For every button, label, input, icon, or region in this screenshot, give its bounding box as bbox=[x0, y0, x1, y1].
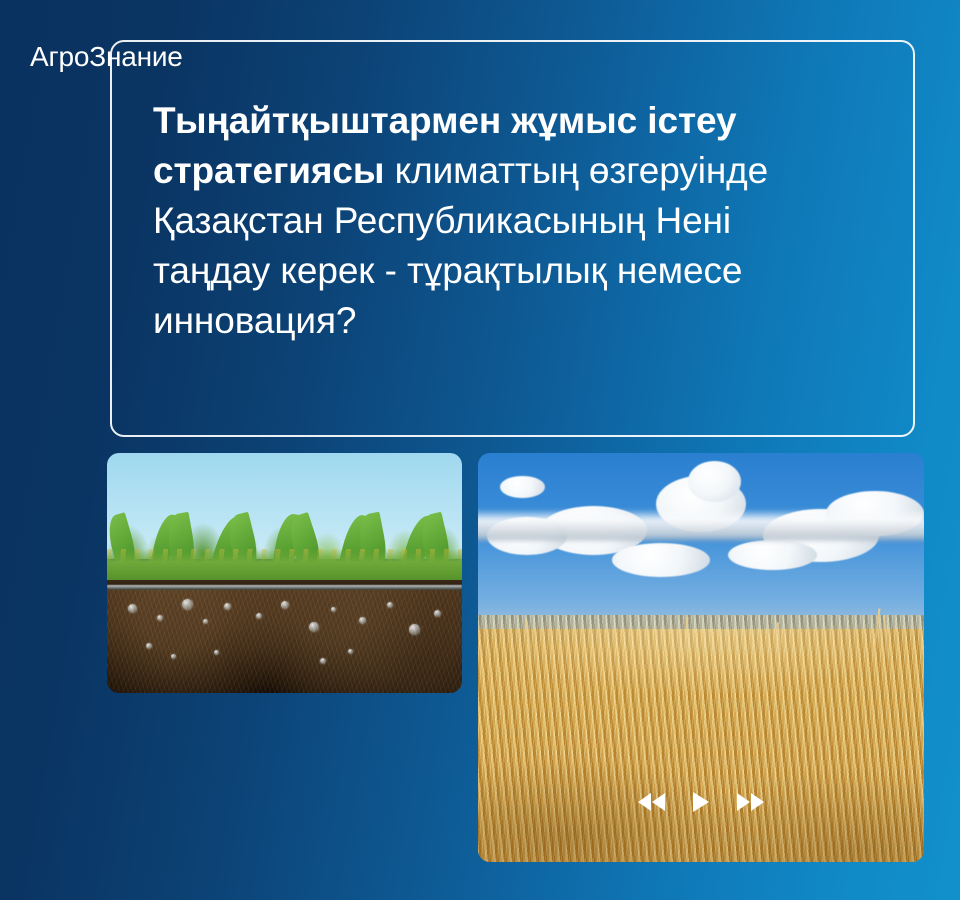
slide-canvas: АгроЗнание Тыңайтқыштармен жұмыс істеу с… bbox=[0, 0, 960, 900]
cloud bbox=[612, 543, 710, 577]
wheat-stalk bbox=[777, 622, 783, 664]
cloud bbox=[728, 540, 817, 570]
water-bubble bbox=[409, 624, 420, 635]
cloud bbox=[500, 476, 545, 499]
water-bubble bbox=[256, 613, 262, 619]
brand-logo: АгроЗнание bbox=[30, 43, 183, 71]
water-bubble bbox=[128, 604, 137, 613]
water-bubble bbox=[320, 658, 326, 664]
wheat-stalk bbox=[525, 620, 533, 666]
soil-cross-section-layer bbox=[107, 590, 462, 693]
fast-forward-icon[interactable] bbox=[737, 793, 764, 811]
water-bubble bbox=[171, 654, 176, 659]
water-bubble bbox=[434, 610, 441, 617]
water-bubble bbox=[359, 617, 366, 624]
water-bubble bbox=[224, 603, 231, 610]
media-controls bbox=[478, 784, 924, 820]
water-bubble bbox=[203, 619, 208, 624]
wheat-field-layer bbox=[478, 629, 924, 862]
water-bubble bbox=[348, 649, 353, 654]
water-bubble bbox=[214, 650, 219, 655]
cloud bbox=[688, 461, 742, 502]
water-bubble bbox=[157, 615, 163, 621]
water-bubble bbox=[182, 599, 193, 610]
cloud-band bbox=[478, 509, 924, 541]
sky-layer bbox=[478, 453, 924, 641]
water-bubble bbox=[281, 601, 289, 609]
headline: Тыңайтқыштармен жұмыс істеу стратегиясы … bbox=[153, 96, 853, 346]
wheat-stalk bbox=[883, 615, 890, 676]
media-tile-soil-corn[interactable] bbox=[107, 453, 462, 693]
wheat-stalk bbox=[870, 608, 881, 678]
play-icon[interactable] bbox=[693, 792, 709, 812]
wheat-stalk bbox=[683, 617, 689, 668]
rewind-icon[interactable] bbox=[638, 793, 665, 811]
water-bubble bbox=[309, 622, 319, 632]
water-bubble bbox=[331, 607, 336, 612]
brand-logo-text: АгроЗнание bbox=[30, 41, 183, 72]
water-bubble bbox=[387, 602, 393, 608]
water-bubble bbox=[146, 643, 152, 649]
media-tile-wheat-field[interactable] bbox=[478, 453, 924, 862]
